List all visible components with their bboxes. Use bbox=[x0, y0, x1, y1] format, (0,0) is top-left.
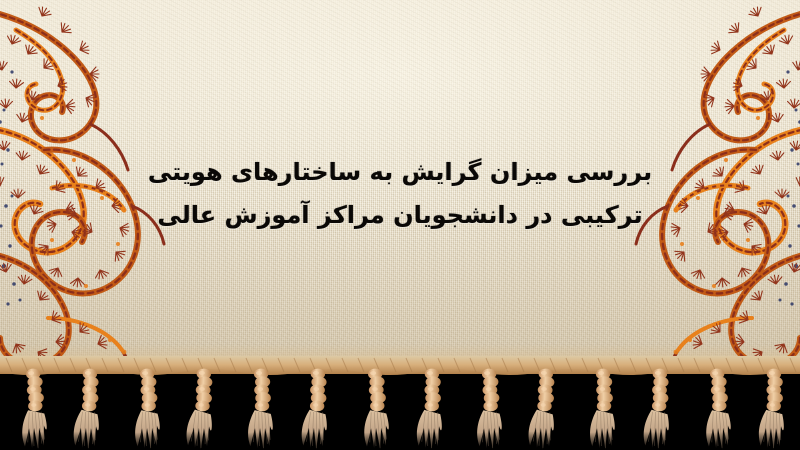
title-line-2: ترکیبی در دانشجویان مراکز آموزش عالی bbox=[0, 203, 800, 227]
slide-title: بررسی میزان گرایش به ساختارهای هویتی ترک… bbox=[0, 160, 800, 227]
tassel-fringe bbox=[0, 356, 800, 450]
title-line-1: بررسی میزان گرایش به ساختارهای هویتی bbox=[0, 160, 800, 184]
slide-canvas: بررسی میزان گرایش به ساختارهای هویتی ترک… bbox=[0, 0, 800, 450]
